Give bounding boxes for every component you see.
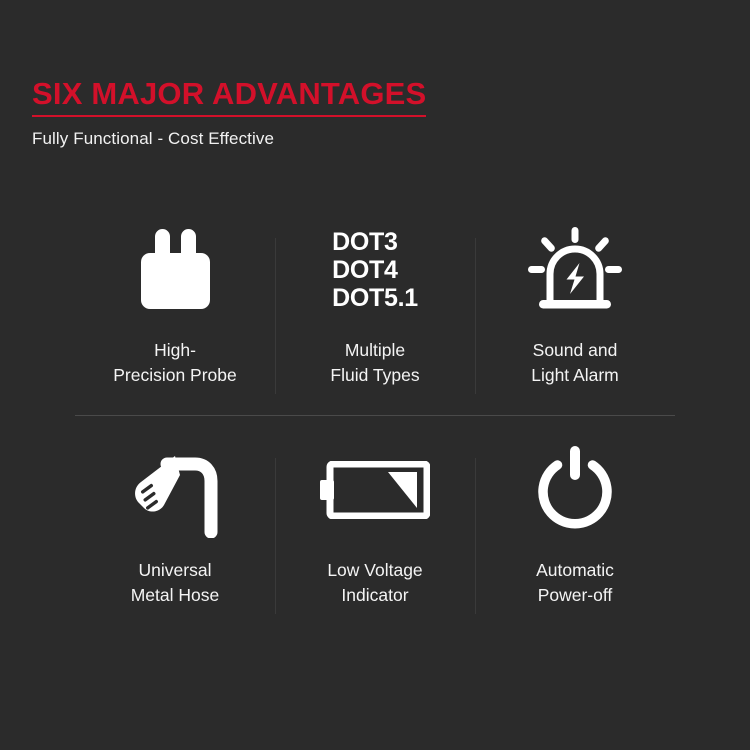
page-title: SIX MAJOR ADVANTAGES [32,78,426,117]
fluid-types-text-icon: DOT3 DOT4 DOT5.1 [332,214,418,326]
features-grid: High- Precision Probe DOT3 DOT4 DOT5.1 M… [75,196,675,636]
metal-hose-icon [123,434,227,546]
probe-icon [129,214,221,326]
feature-cell-multiple-fluid-types: DOT3 DOT4 DOT5.1 Multiple Fluid Types [275,196,475,416]
feature-label: High- Precision Probe [113,338,237,389]
feature-cell-automatic-power-off: Automatic Power-off [475,416,675,636]
fluid-type-dot3: DOT3 [332,228,418,256]
fluid-type-dot51: DOT5.1 [332,284,418,312]
feature-cell-low-voltage-indicator: Low Voltage Indicator [275,416,475,636]
power-off-icon [533,434,617,546]
feature-cell-high-precision-probe: High- Precision Probe [75,196,275,416]
feature-label: Low Voltage Indicator [327,558,422,609]
battery-low-icon [320,434,430,546]
feature-cell-universal-metal-hose: Universal Metal Hose [75,416,275,636]
advantages-poster: SIX MAJOR ADVANTAGES Fully Functional - … [0,0,750,750]
fluid-types-list: DOT3 DOT4 DOT5.1 [332,228,418,312]
siren-alarm-icon [528,214,622,326]
header: SIX MAJOR ADVANTAGES Fully Functional - … [32,78,672,149]
page-subtitle: Fully Functional - Cost Effective [32,129,672,149]
feature-cell-sound-light-alarm: Sound and Light Alarm [475,196,675,416]
feature-label: Automatic Power-off [536,558,614,609]
fluid-type-dot4: DOT4 [332,256,418,284]
feature-label: Multiple Fluid Types [330,338,419,389]
feature-label: Sound and Light Alarm [531,338,619,389]
feature-label: Universal Metal Hose [131,558,220,609]
